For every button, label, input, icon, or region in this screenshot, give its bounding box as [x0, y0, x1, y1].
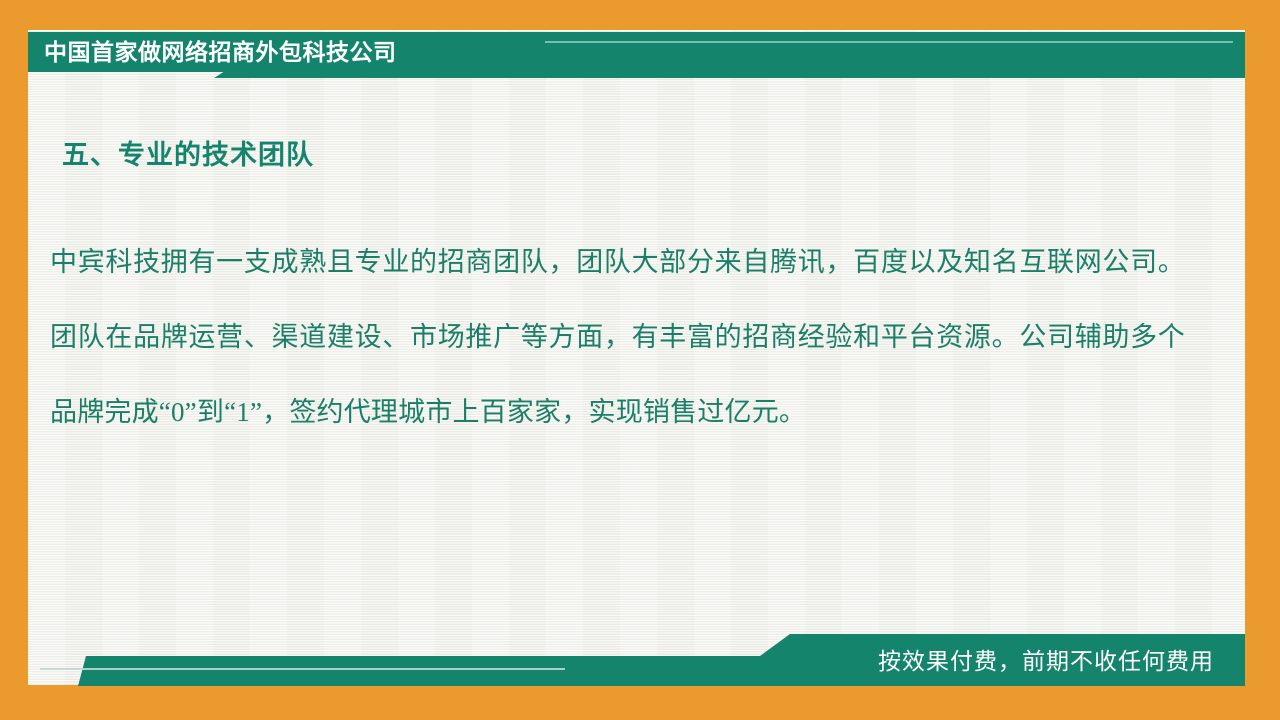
header-banner-text: 中国首家做网络招商外包科技公司: [44, 33, 397, 73]
body-paragraph: 中宾科技拥有一支成熟且专业的招商团队，团队大部分来自腾讯，百度以及知名互联网公司…: [50, 225, 1185, 450]
frame-top-border: [0, 0, 1280, 30]
frame-right-border: [1245, 0, 1280, 720]
frame-bottom-border: [0, 686, 1280, 720]
page-title: 五、专业的技术团队: [62, 133, 314, 172]
footer-rule: [40, 668, 565, 670]
footer-tagline: 按效果付费，前期不收任何费用: [878, 642, 1214, 682]
slide-canvas: 中国首家做网络招商外包科技公司 五、专业的技术团队 中宾科技拥有一支成熟且专业的…: [0, 0, 1280, 720]
header-rule: [545, 41, 1233, 43]
frame-left-border: [0, 0, 28, 720]
